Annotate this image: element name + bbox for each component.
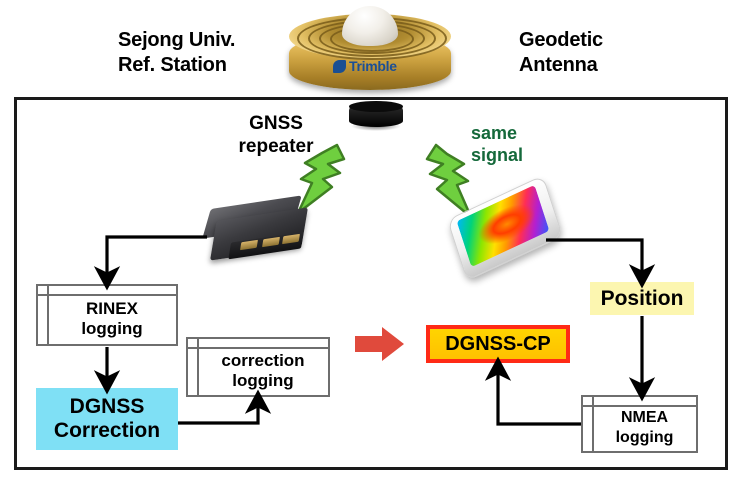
puck-shadow [351,123,401,131]
antenna-radome [342,6,398,46]
rinex-logging-box[interactable]: RINEX logging [36,284,178,346]
same-signal-label: same signal [471,122,581,166]
nmea-logging-box[interactable]: NMEA logging [581,395,698,453]
correction-logging-label: correction logging [211,343,304,391]
diagram-canvas: Sejong Univ. Ref. Station Geodetic Anten… [0,0,742,482]
repeater-antenna-puck-image [349,101,403,131]
dgnss-correction-box[interactable]: DGNSS Correction [36,388,178,450]
position-box[interactable]: Position [590,282,694,315]
dgnss-cp-box[interactable]: DGNSS-CP [426,325,570,363]
trimble-mark-icon [333,60,346,73]
nmea-logging-label: NMEA logging [606,400,674,448]
red-flow-arrow-icon [355,325,405,363]
puck-top [349,101,403,112]
correction-logging-box[interactable]: correction logging [186,337,330,397]
geodetic-antenna-image: Trimble [281,0,459,97]
rinex-logging-label: RINEX logging [71,291,142,339]
trimble-wordmark: Trimble [349,58,397,74]
geodetic-antenna-label: Geodetic Antenna [519,28,603,78]
trimble-logo: Trimble [333,57,429,75]
reference-station-label: Sejong Univ. Ref. Station [118,28,235,78]
gnss-repeater-device-image [205,200,309,266]
smartphone-image [446,190,564,274]
